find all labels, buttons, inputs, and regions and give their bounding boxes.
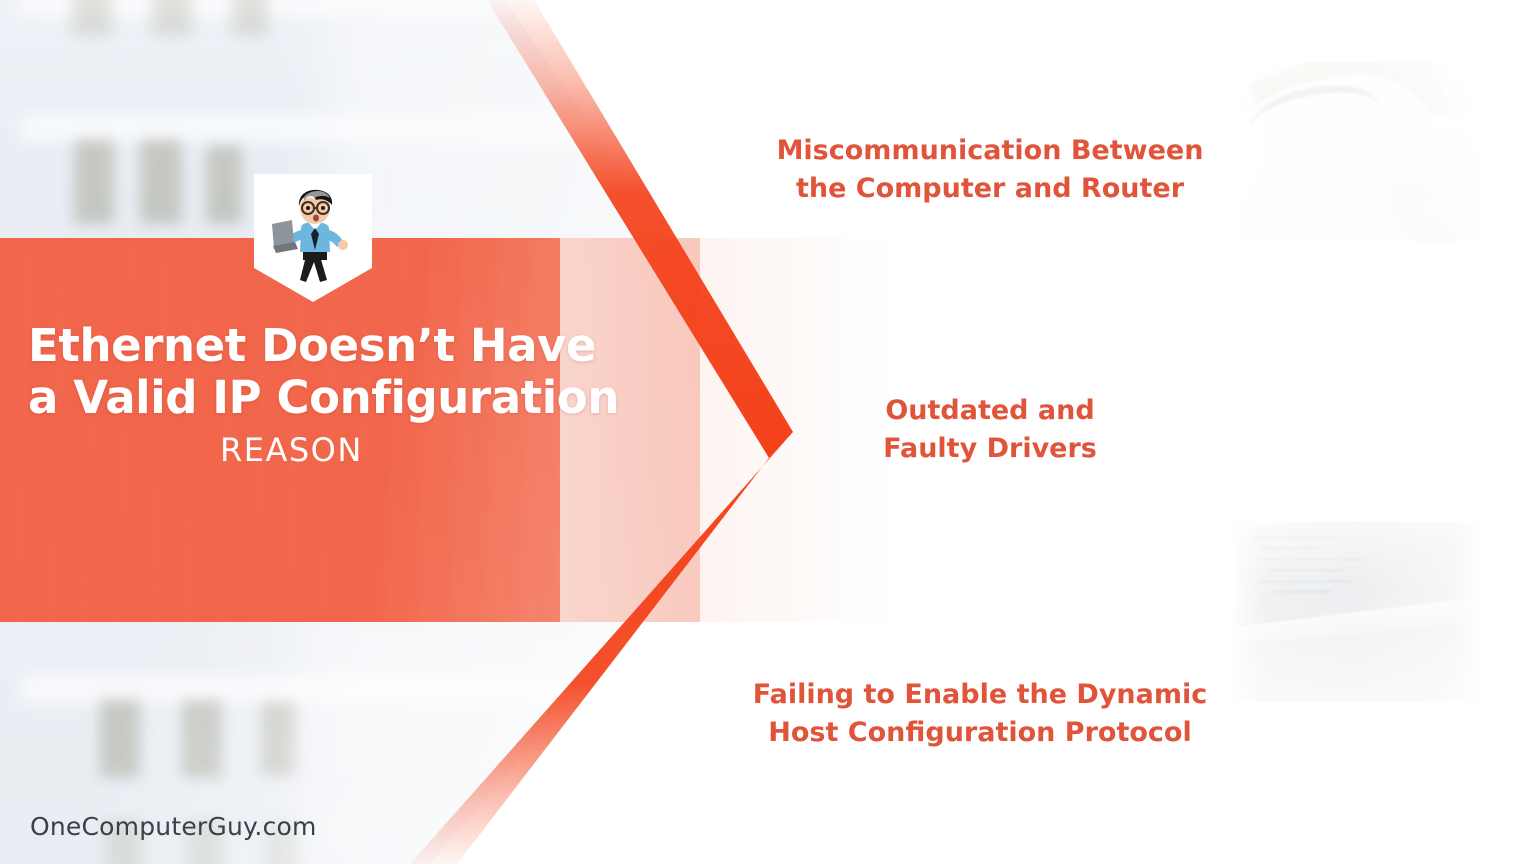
page-title-line1: Ethernet Doesn’t Have bbox=[28, 320, 660, 372]
site-watermark: OneComputerGuy.com bbox=[30, 812, 317, 841]
reason-item-2-label: Outdated and Faulty Drivers bbox=[883, 392, 1097, 468]
brand-logo-badge[interactable] bbox=[252, 172, 374, 304]
reason-item-3-label: Failing to Enable the Dynamic Host Confi… bbox=[753, 676, 1208, 752]
reason-item-1: Miscommunication Between the Computer an… bbox=[760, 128, 1220, 212]
page-title-line2: a Valid IP Configuration bbox=[28, 372, 660, 424]
reason-item-1-label: Miscommunication Between the Computer an… bbox=[777, 132, 1204, 208]
title-block: Ethernet Doesn’t Have a Valid IP Configu… bbox=[0, 320, 660, 469]
page-subtitle: REASON bbox=[28, 431, 660, 469]
reason-item-2-thumbnail bbox=[1232, 522, 1482, 702]
reason-item-3: Failing to Enable the Dynamic Host Confi… bbox=[740, 672, 1220, 756]
reason-item-2: Outdated and Faulty Drivers bbox=[840, 388, 1140, 472]
infographic-canvas: Ethernet Doesn’t Have a Valid IP Configu… bbox=[0, 0, 1536, 864]
reason-item-1-thumbnail bbox=[1232, 62, 1482, 242]
